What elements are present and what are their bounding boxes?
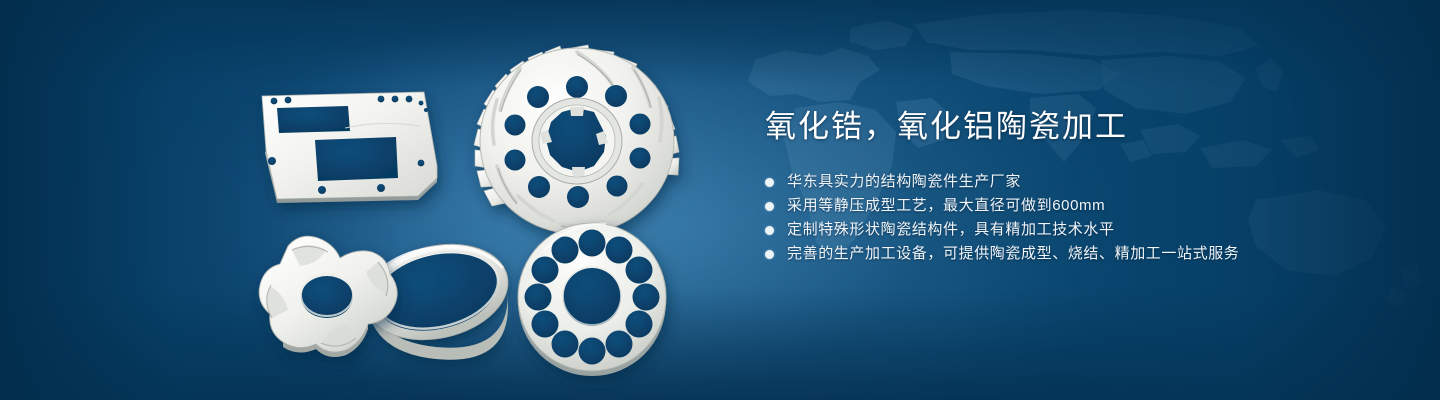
promo-banner: 氧化锆，氧化铝陶瓷加工 华东具实力的结构陶瓷件生产厂家 采用等静压成型工艺，最大…: [0, 0, 1440, 400]
banner-text-column: 氧化锆，氧化铝陶瓷加工 华东具实力的结构陶瓷件生产厂家 采用等静压成型工艺，最大…: [765, 110, 1385, 266]
bullet-dot-icon: [765, 226, 774, 235]
ceramic-impeller: [474, 45, 679, 234]
bullet-dot-icon: [765, 250, 774, 259]
ceramic-cross-vane: [259, 236, 397, 357]
feature-text: 完善的生产加工设备，可提供陶瓷成型、烧结、精加工一站式服务: [787, 242, 1239, 266]
ceramic-perforated-disc: [518, 223, 666, 376]
list-item: 完善的生产加工设备，可提供陶瓷成型、烧结、精加工一站式服务: [765, 242, 1385, 266]
feature-list: 华东具实力的结构陶瓷件生产厂家 采用等静压成型工艺，最大直径可做到600mm 定…: [765, 170, 1385, 266]
list-item: 采用等静压成型工艺，最大直径可做到600mm: [765, 194, 1385, 218]
list-item: 定制特殊形状陶瓷结构件，具有精加工技术水平: [765, 218, 1385, 242]
feature-text: 华东具实力的结构陶瓷件生产厂家: [787, 170, 1021, 194]
bullet-dot-icon: [765, 178, 774, 187]
feature-text: 定制特殊形状陶瓷结构件，具有精加工技术水平: [787, 218, 1115, 242]
page-title: 氧化锆，氧化铝陶瓷加工: [765, 110, 1385, 144]
bullet-dot-icon: [765, 202, 774, 211]
ceramic-mounting-plate: [262, 92, 437, 203]
feature-text: 采用等静压成型工艺，最大直径可做到600mm: [787, 194, 1105, 218]
ceramic-products-image: [0, 0, 720, 400]
list-item: 华东具实力的结构陶瓷件生产厂家: [765, 170, 1385, 194]
